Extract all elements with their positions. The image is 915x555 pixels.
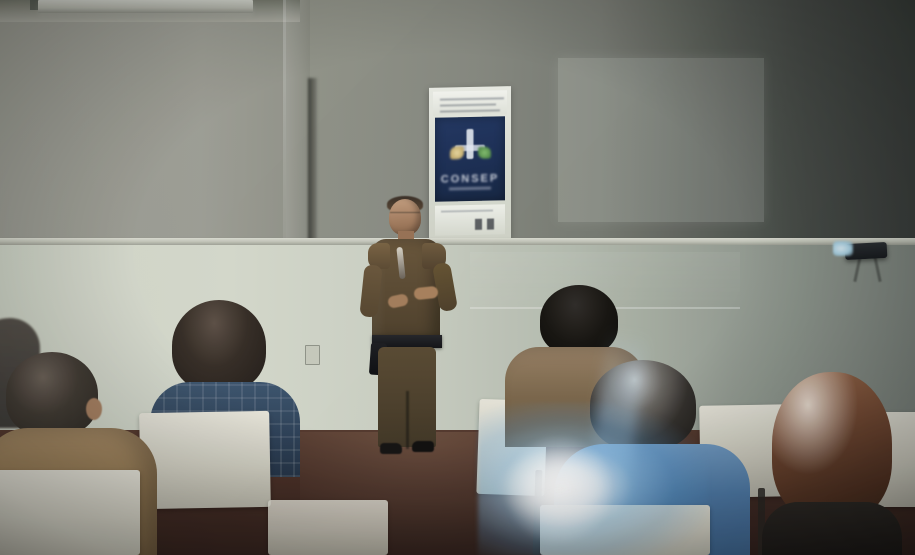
banner-navy-panel: CONSEP	[435, 116, 505, 201]
photo-scene: Texto ilegible Linea de texto borrosa un…	[0, 0, 915, 555]
fluorescent-ceiling-light-icon	[38, 0, 253, 13]
chair	[540, 505, 710, 555]
wall-seam	[283, 0, 286, 262]
pilaster-shadow	[308, 78, 317, 243]
audience-hair	[590, 360, 696, 450]
banner-wordmark: CONSEP	[435, 172, 505, 185]
banner-header-line	[440, 97, 504, 100]
audience-hair	[540, 285, 618, 355]
banner-header-line	[440, 109, 500, 112]
audience-dark-top	[762, 502, 902, 555]
speaker-shoe-right	[412, 441, 434, 452]
sponsor-mark	[487, 218, 494, 229]
speaker-shoe-left	[380, 443, 402, 454]
audience-member-long-hair	[762, 372, 902, 555]
chair	[0, 470, 140, 555]
projector-lens-icon	[833, 241, 853, 256]
banner-header	[433, 90, 507, 116]
chair	[268, 500, 388, 555]
audience-hair	[6, 352, 98, 436]
crest-emblem-icon	[449, 129, 491, 170]
audience-ear	[86, 398, 102, 420]
audience-hair	[172, 300, 266, 392]
chair	[139, 411, 271, 509]
audience-hair	[772, 372, 892, 522]
emblem-green-element	[478, 147, 491, 159]
projection-screen: Texto ilegible Linea de texto borrosa un…	[558, 58, 764, 222]
emblem-gold-element	[450, 146, 464, 159]
speaker-leg-split	[406, 391, 409, 449]
wall-pilaster	[286, 0, 310, 262]
banner-header-line	[440, 103, 496, 106]
speaker-officer	[360, 195, 480, 470]
banner-subline	[449, 187, 491, 191]
wall-outlet	[305, 345, 320, 365]
speaker-glasses-icon	[390, 212, 420, 218]
